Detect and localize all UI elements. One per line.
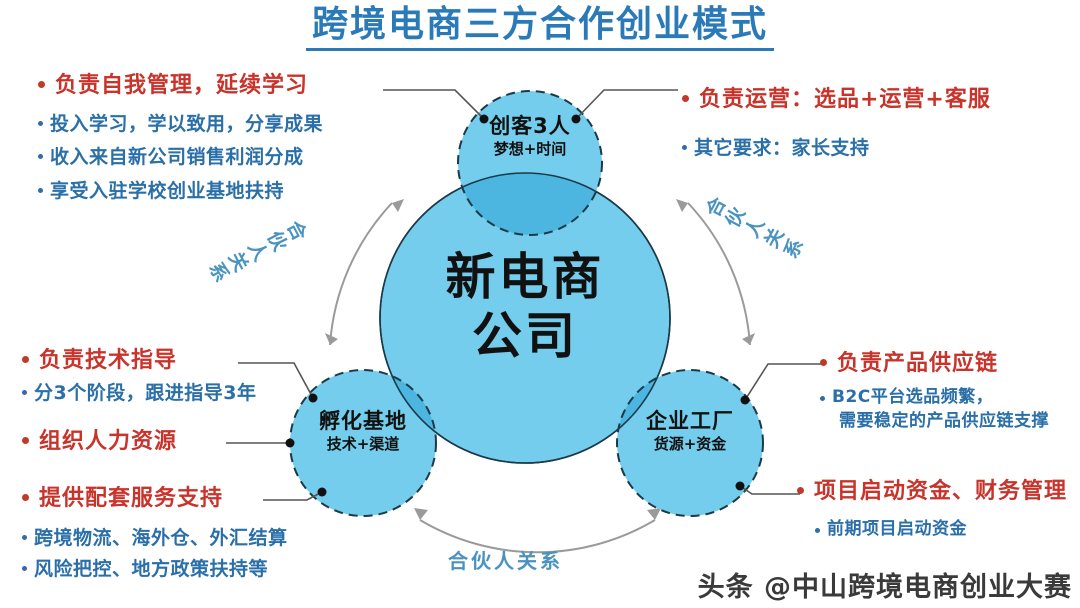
arc-caption-bottom: 合伙人关系 [448, 545, 563, 574]
dot-left-upper [309, 394, 318, 403]
block-top-left-heading: 负责自我管理，延续学习 [38, 72, 323, 100]
blue-bullet-icon [815, 528, 820, 533]
dot-right-upper [741, 396, 750, 405]
connector-top-right [576, 90, 678, 119]
block-right-lower-heading: 项目启动资金、财务管理 [797, 478, 1067, 506]
blue-bullet-icon [820, 396, 825, 401]
watermark: 头条 @中山跨境电商创业大赛 [698, 565, 1072, 604]
block-right-upper: 负责产品供应链 B2C平台选品频繁， 需要稳定的产品供应链支撑 [820, 350, 1049, 433]
block-top-left-item-2: 享受入驻学校创业基地扶持 [38, 179, 323, 203]
block-top-left: 负责自我管理，延续学习 投入学习，学以致用，分享成果 收入来自新公司销售利润分成… [38, 72, 323, 203]
block-left-middle-heading: 组织人力资源 [22, 428, 177, 456]
center-label-line1: 新电商 [395, 248, 655, 307]
blue-bullet-icon [38, 121, 43, 126]
blue-bullet-icon [22, 535, 27, 540]
block-top-right-heading: 负责运营：选品+运营+客服 [682, 86, 991, 114]
red-bullet-icon [22, 494, 29, 501]
block-left-upper: 负责技术指导 分3个阶段，跟进指导3年 [22, 347, 256, 405]
diagram-canvas: 跨境电商三方合作创业模式 [0, 0, 1080, 608]
block-left-upper-heading: 负责技术指导 [22, 347, 256, 375]
blue-bullet-icon [22, 390, 27, 395]
block-top-right-item-0: 其它要求：家长支持 [682, 136, 991, 160]
red-bullet-icon [22, 437, 29, 444]
block-left-middle: 组织人力资源 [22, 428, 177, 456]
blue-bullet-icon [38, 154, 43, 159]
arrow-right [676, 199, 688, 212]
center-label-line2: 公司 [395, 307, 655, 366]
block-top-left-item-0: 投入学习，学以致用，分享成果 [38, 112, 323, 136]
block-right-lower-item-0: 前期项目启动资金 [815, 519, 1067, 541]
arrow-bottom [414, 508, 428, 520]
red-bullet-icon [22, 356, 29, 363]
block-left-lower-heading: 提供配套服务支持 [22, 485, 288, 513]
center-circle-label: 新电商 公司 [395, 248, 655, 366]
blue-bullet-icon [38, 188, 43, 193]
blue-bullet-icon [22, 566, 27, 571]
block-right-upper-heading: 负责产品供应链 [820, 350, 1049, 378]
block-left-upper-item-0: 分3个阶段，跟进指导3年 [22, 381, 256, 405]
red-bullet-icon [820, 359, 827, 366]
block-left-lower-item-0: 跨境物流、海外仓、外汇结算 [22, 526, 288, 550]
dot-top-right [572, 115, 581, 124]
block-top-left-item-1: 收入来自新公司销售利润分成 [38, 145, 323, 169]
dot-right-lower [736, 482, 745, 491]
block-right-upper-item-1: 需要稳定的产品供应链支撑 [820, 411, 1049, 433]
arrow-left [392, 199, 404, 212]
red-bullet-icon [682, 95, 689, 102]
red-bullet-icon [38, 81, 45, 88]
connector-right-upper [745, 364, 823, 400]
block-left-lower: 提供配套服务支持 跨境物流、海外仓、外汇结算 风险把控、地方政策扶持等 [22, 485, 288, 582]
block-right-upper-item-0: B2C平台选品频繁， [820, 387, 1049, 409]
arrow-bottom-end [647, 508, 661, 520]
block-left-lower-item-1: 风险把控、地方政策扶持等 [22, 557, 288, 581]
red-bullet-icon [797, 487, 804, 494]
block-right-lower: 项目启动资金、财务管理 前期项目启动资金 [797, 478, 1067, 541]
dot-left-lower [318, 488, 327, 497]
blue-bullet-icon [682, 145, 687, 150]
block-top-right: 负责运营：选品+运营+客服 其它要求：家长支持 [682, 86, 991, 160]
dot-top-left [480, 115, 489, 124]
connector-top-left [383, 90, 484, 119]
dot-left-middle [286, 439, 295, 448]
